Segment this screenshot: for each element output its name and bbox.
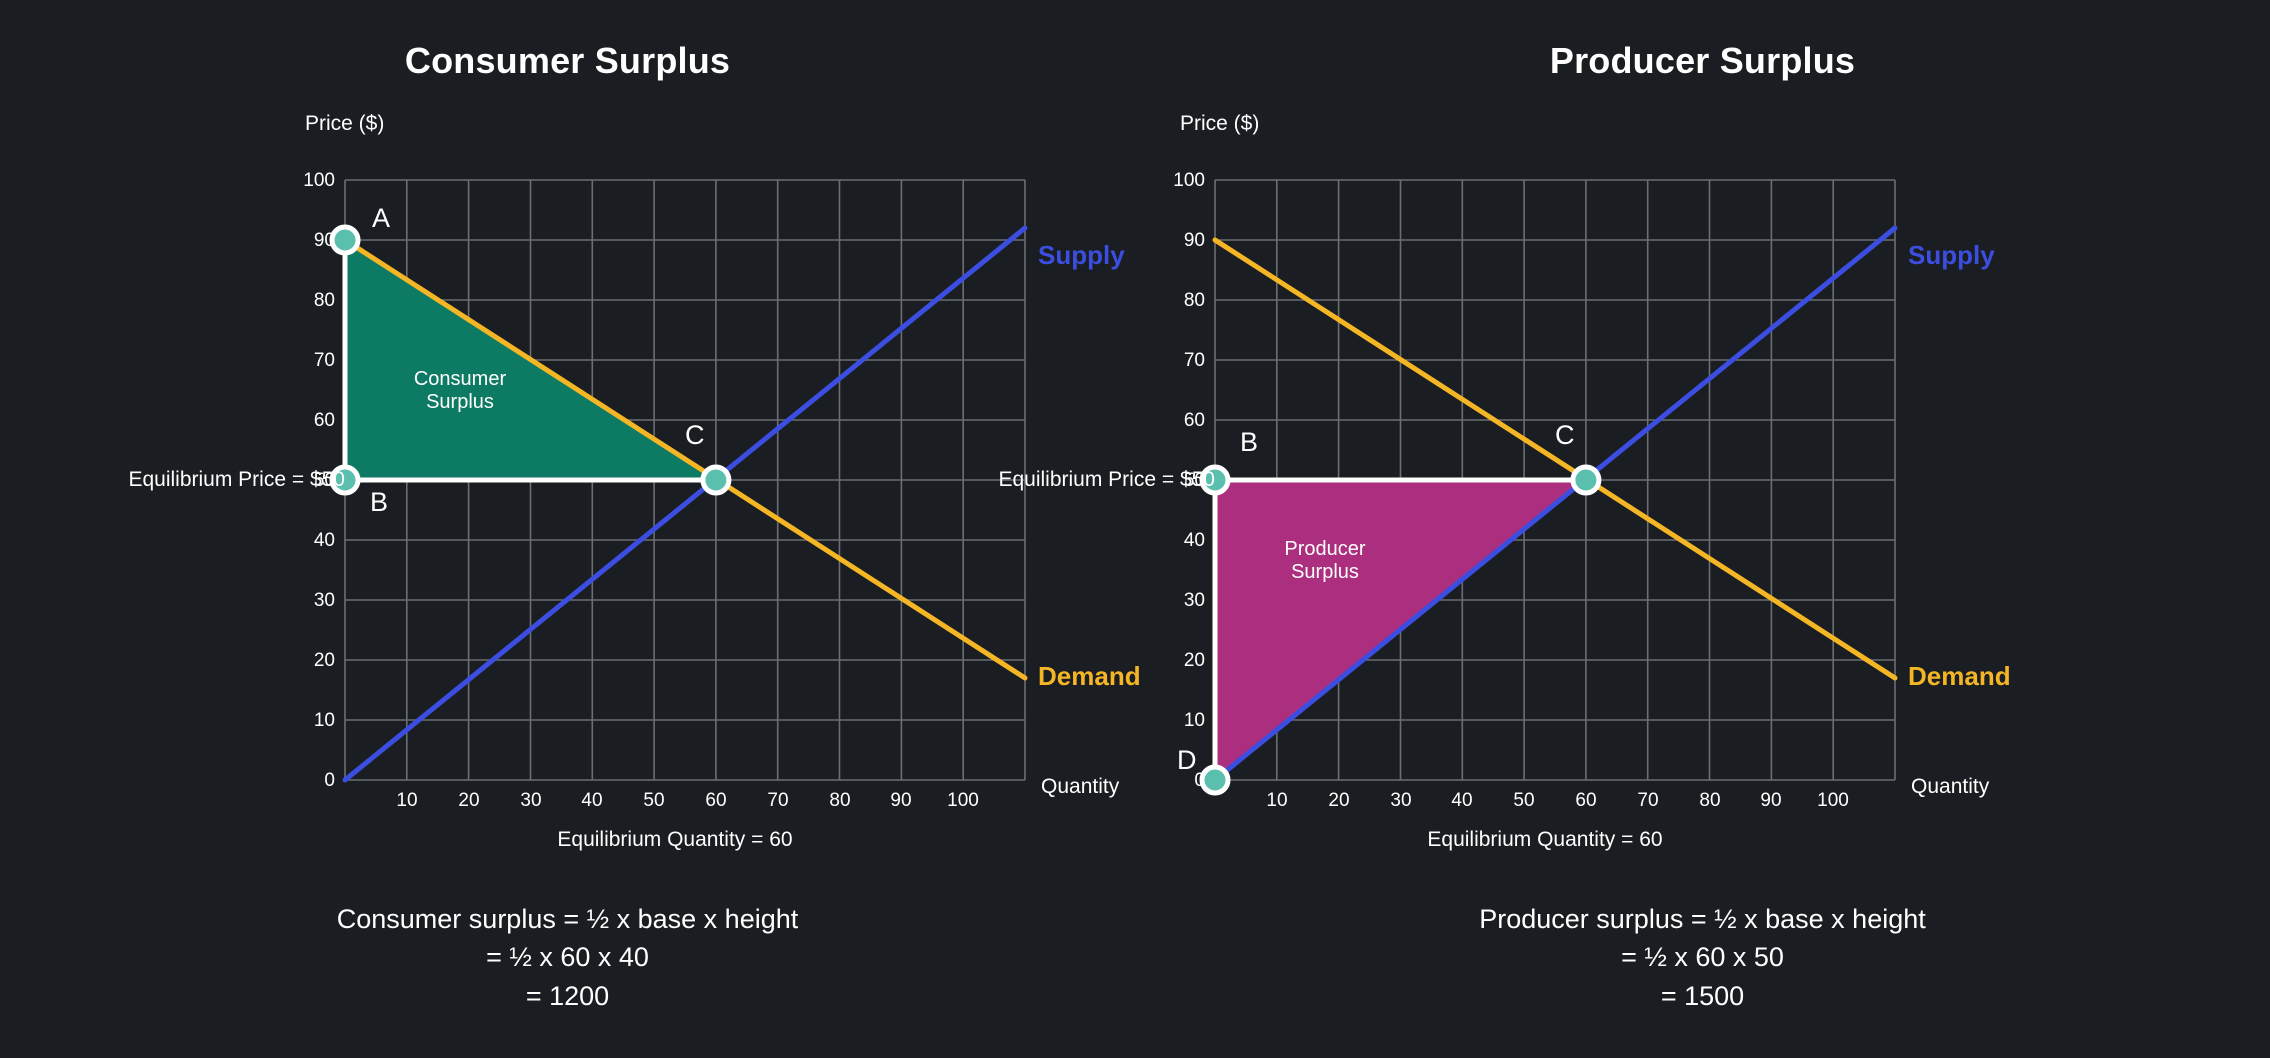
y-tick-10-producer: 10 (1159, 710, 1205, 732)
y-tick-100-producer: 100 (1159, 170, 1205, 192)
producer-formula-line1: Producer surplus = ½ x base x height (1135, 900, 2270, 938)
x-tick-30-consumer: 30 (508, 790, 554, 812)
y-tick-100-consumer: 100 (289, 170, 335, 192)
consumer-formula-line3: = 1200 (0, 977, 1135, 1015)
demand-legend-label-producer: Demand (1908, 661, 2011, 692)
x-tick-40-producer: 40 (1439, 790, 1485, 812)
x-tick-100-consumer: 100 (940, 790, 986, 812)
producer-surplus-area-label-line1: Producer (1245, 538, 1405, 561)
y-tick-90-producer: 90 (1159, 230, 1205, 252)
point-c-marker (703, 467, 729, 493)
producer-formula-line2: = ½ x 60 x 50 (1135, 938, 2270, 976)
y-tick-10-consumer: 10 (289, 710, 335, 732)
consumer-surplus-formula: Consumer surplus = ½ x base x height = ½… (0, 900, 1135, 1015)
x-tick-70-consumer: 70 (755, 790, 801, 812)
producer-surplus-area-label-line2: Surplus (1245, 561, 1405, 584)
x-tick-50-consumer: 50 (631, 790, 677, 812)
x-tick-100-producer: 100 (1810, 790, 1856, 812)
producer-surplus-area-label: Producer Surplus (1245, 538, 1405, 584)
y-tick-70-producer: 70 (1159, 350, 1205, 372)
x-axis-title-consumer: Quantity (1041, 775, 1119, 799)
point-label-b-consumer: B (370, 487, 388, 518)
point-label-c-producer: C (1555, 420, 1575, 451)
x-tick-70-producer: 70 (1625, 790, 1671, 812)
consumer-surplus-area-label: Consumer Surplus (380, 368, 540, 414)
producer-surplus-formula: Producer surplus = ½ x base x height = ½… (1135, 900, 2270, 1015)
y-tick-30-producer: 30 (1159, 590, 1205, 612)
point-c-marker (1573, 467, 1599, 493)
y-tick-60-consumer: 60 (289, 410, 335, 432)
equilibrium-price-label-producer: Equilibrium Price = $50 (925, 468, 1215, 492)
x-tick-20-producer: 20 (1316, 790, 1362, 812)
consumer-formula-line2: = ½ x 60 x 40 (0, 938, 1135, 976)
equilibrium-quantity-label-consumer: Equilibrium Quantity = 60 (475, 828, 875, 852)
consumer-formula-line1: Consumer surplus = ½ x base x height (0, 900, 1135, 938)
page-title-producer: Producer Surplus (1135, 40, 2270, 82)
x-tick-10-producer: 10 (1254, 790, 1300, 812)
x-tick-80-consumer: 80 (817, 790, 863, 812)
x-tick-10-consumer: 10 (384, 790, 430, 812)
point-label-a-consumer: A (372, 203, 390, 234)
consumer-surplus-panel: Consumer Surplus Price ($) (0, 0, 1135, 1058)
x-tick-60-consumer: 60 (693, 790, 739, 812)
y-tick-60-producer: 60 (1159, 410, 1205, 432)
x-tick-30-producer: 30 (1378, 790, 1424, 812)
supply-legend-label-consumer: Supply (1038, 240, 1125, 271)
producer-formula-line3: = 1500 (1135, 977, 2270, 1015)
consumer-surplus-area-label-line1: Consumer (380, 368, 540, 391)
point-d-marker (1202, 767, 1228, 793)
y-tick-80-consumer: 80 (289, 290, 335, 312)
demand-legend-label-consumer: Demand (1038, 661, 1141, 692)
equilibrium-quantity-label-producer: Equilibrium Quantity = 60 (1345, 828, 1745, 852)
x-tick-90-producer: 90 (1748, 790, 1794, 812)
supply-legend-label-producer: Supply (1908, 240, 1995, 271)
point-label-c-consumer: C (685, 420, 705, 451)
x-tick-40-consumer: 40 (569, 790, 615, 812)
y-tick-40-producer: 40 (1159, 530, 1205, 552)
y-tick-30-consumer: 30 (289, 590, 335, 612)
y-tick-80-producer: 80 (1159, 290, 1205, 312)
producer-surplus-plot (1215, 180, 1895, 780)
x-tick-80-producer: 80 (1687, 790, 1733, 812)
y-axis-title-producer: Price ($) (1180, 112, 1259, 136)
x-tick-50-producer: 50 (1501, 790, 1547, 812)
equilibrium-price-label-consumer: Equilibrium Price = $50 (55, 468, 345, 492)
page-title-consumer: Consumer Surplus (0, 40, 1135, 82)
point-a-marker (332, 227, 358, 253)
producer-surplus-panel: Producer Surplus Price ($) (1135, 0, 2270, 1058)
y-tick-70-consumer: 70 (289, 350, 335, 372)
x-axis-title-producer: Quantity (1911, 775, 1989, 799)
y-tick-40-consumer: 40 (289, 530, 335, 552)
x-tick-60-producer: 60 (1563, 790, 1609, 812)
consumer-surplus-plot (345, 180, 1025, 780)
y-axis-title-consumer: Price ($) (305, 112, 384, 136)
point-label-d-producer: D (1177, 745, 1197, 776)
y-tick-90-consumer: 90 (289, 230, 335, 252)
consumer-surplus-area-label-line2: Surplus (380, 391, 540, 414)
x-tick-20-consumer: 20 (446, 790, 492, 812)
x-tick-90-consumer: 90 (878, 790, 924, 812)
y-tick-20-producer: 20 (1159, 650, 1205, 672)
y-tick-0-consumer: 0 (289, 770, 335, 792)
y-tick-20-consumer: 20 (289, 650, 335, 672)
point-label-b-producer: B (1240, 427, 1258, 458)
